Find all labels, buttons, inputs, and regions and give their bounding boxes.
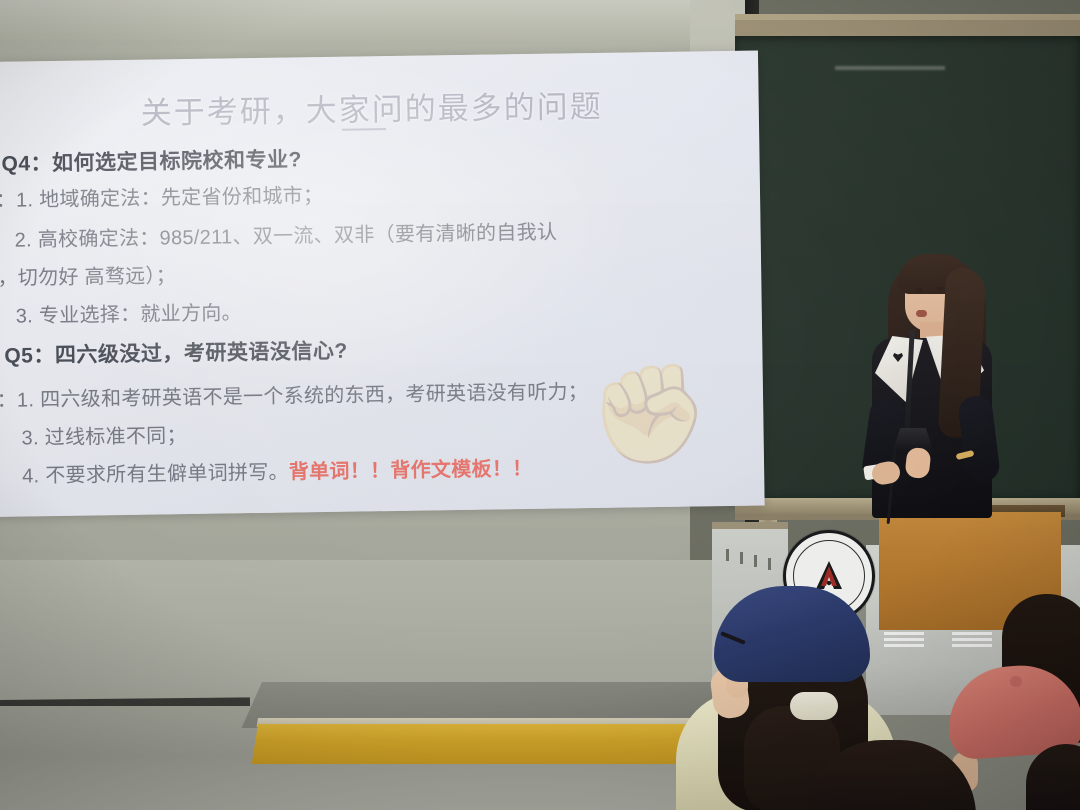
speaker-eye-left [916, 288, 923, 292]
q5-highlight-text: 背单词！！背作文模板！！ [289, 458, 533, 484]
q4-answer-2: 2. 高校确定法：985/211、双一流、双非（要有清晰的自我认 [14, 216, 557, 253]
q5-answer-4: 4. 不要求所有生僻单词拼写。背单词！！背作文模板！！ [22, 452, 533, 489]
q5-answer-3: 3. 过线标准不同； [21, 419, 187, 450]
projection-screen: 关于考研，大家问的最多的问题 Q4：如何选定目标院校和专业? A：1. 地域确定… [0, 51, 765, 517]
q5-question: Q5：四六级没过，考研英语没信心? [4, 335, 348, 370]
audience-member-1-scrunchie [790, 692, 838, 720]
audience-member-3-cap-button [1010, 676, 1022, 687]
stage-step-front [252, 724, 728, 764]
q5-answer-1: A：1. 四六级和考研英语不是一个系统的东西，考研英语没有听力； [0, 375, 588, 413]
slide-title: 关于考研，大家问的最多的问题 [136, 81, 607, 133]
q4-answer-1: A：1. 地域确定法：先定省份和城市； [0, 179, 323, 213]
audience-member-1-cap-button [784, 588, 798, 601]
title-underline-decoration [342, 128, 386, 131]
speaker-mouth [916, 310, 927, 317]
slide-content: 关于考研，大家问的最多的问题 Q4：如何选定目标院校和专业? A：1. 地域确定… [0, 51, 765, 517]
chalk-smudge [835, 66, 945, 70]
raised-fist-icon: ✊ [587, 364, 711, 466]
lectern-vent-slots [726, 545, 778, 575]
q4-answer-3: 3. 专业选择：就业方向。 [16, 296, 243, 328]
q4-answer-2-continued: 口，切勿好 高骛远）； [0, 259, 176, 291]
lecture-hall-scene: 关于考研，大家问的最多的问题 Q4：如何选定目标院校和专业? A：1. 地域确定… [0, 0, 1080, 810]
speaker-eye-right [936, 287, 943, 291]
q4-question: Q4：如何选定目标院校和专业? [1, 143, 302, 177]
q5-answer-4-text: 4. 不要求所有生僻单词拼写。 [22, 462, 289, 488]
